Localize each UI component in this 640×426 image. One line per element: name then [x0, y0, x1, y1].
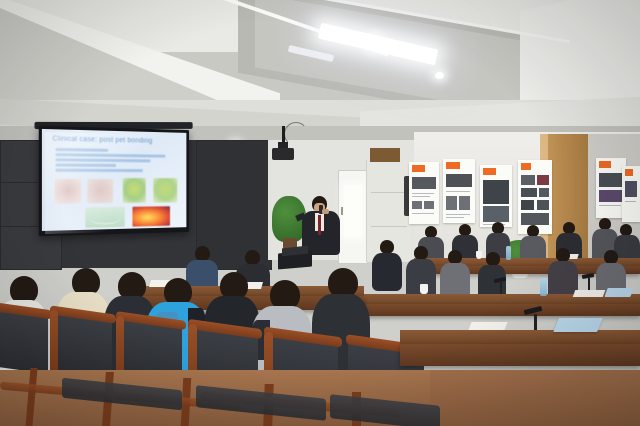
attendee [372, 240, 402, 290]
chair-seatback[interactable] [0, 308, 48, 374]
ceiling-projector [272, 148, 294, 160]
cabinet-seam [371, 226, 407, 227]
conference-table-edge [400, 344, 640, 366]
chair-frame-side [50, 310, 58, 378]
document-paper [573, 290, 606, 297]
projection-screen: Clinical case: post pet bonding [39, 126, 189, 237]
door-glass-panel [344, 185, 362, 237]
water-bottle [506, 246, 511, 260]
cabinet-seam [371, 192, 407, 193]
wall-shelf [370, 148, 400, 162]
recessed-downlight-icon [435, 72, 444, 79]
presenter-tie [318, 215, 321, 235]
research-poster [518, 160, 552, 234]
blue-folder [553, 318, 603, 332]
research-poster [480, 165, 512, 227]
research-poster [443, 159, 475, 223]
research-poster [409, 162, 439, 224]
document-paper [468, 322, 507, 330]
projected-slide: Clinical case: post pet bonding [42, 129, 186, 231]
conference-room-photo: Clinical case: post pet bonding [0, 0, 640, 426]
presenter-hand [322, 209, 329, 214]
screen-glare [45, 132, 189, 234]
paper-cup [420, 284, 428, 294]
conference-table-edge [356, 304, 640, 316]
door[interactable] [338, 170, 368, 264]
research-poster [622, 166, 640, 222]
water-bottle [540, 278, 547, 296]
blue-folder [604, 288, 633, 297]
